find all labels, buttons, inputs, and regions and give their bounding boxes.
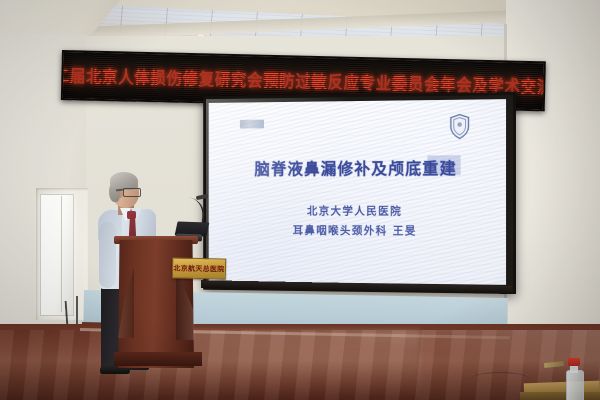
presentation-slide: 脑脊液鼻漏修补及颅底重建 北京大学人民医院 耳鼻咽喉头颈外科 王旻	[209, 99, 506, 285]
left-wall-window	[40, 194, 74, 316]
podium-base	[114, 352, 202, 366]
podium-plaque: 北京航天总医院	[172, 257, 226, 279]
slide-affiliation: 北京大学人民医院	[209, 203, 506, 219]
podium-plaque-text: 北京航天总医院	[173, 263, 224, 274]
foreground-table-front	[520, 392, 600, 400]
floor-cable	[470, 372, 530, 387]
speaker-glasses-icon	[123, 188, 141, 197]
slide-corner-logo	[240, 120, 264, 129]
university-hospital-crest-icon	[449, 113, 471, 139]
water-bottle	[566, 370, 584, 400]
projection-screen: 脑脊液鼻漏修补及颅底重建 北京大学人民医院 耳鼻咽喉头颈外科 王旻	[203, 92, 516, 294]
floor-sheen	[0, 330, 600, 400]
slide-title: 脑脊液鼻漏修补及颅底重建	[209, 155, 506, 180]
speaker-arm	[99, 222, 116, 288]
window-mullion	[61, 196, 62, 312]
water-bottle-cap	[568, 358, 580, 366]
slide-presenter: 耳鼻咽喉头颈外科 王旻	[209, 222, 506, 239]
conference-photo: 第二届北京人体损伤修复研究会预防过敏反应专业委员会年会及学术交流会 脑脊液鼻漏修…	[0, 0, 600, 400]
water-bottle-neck	[570, 365, 578, 373]
